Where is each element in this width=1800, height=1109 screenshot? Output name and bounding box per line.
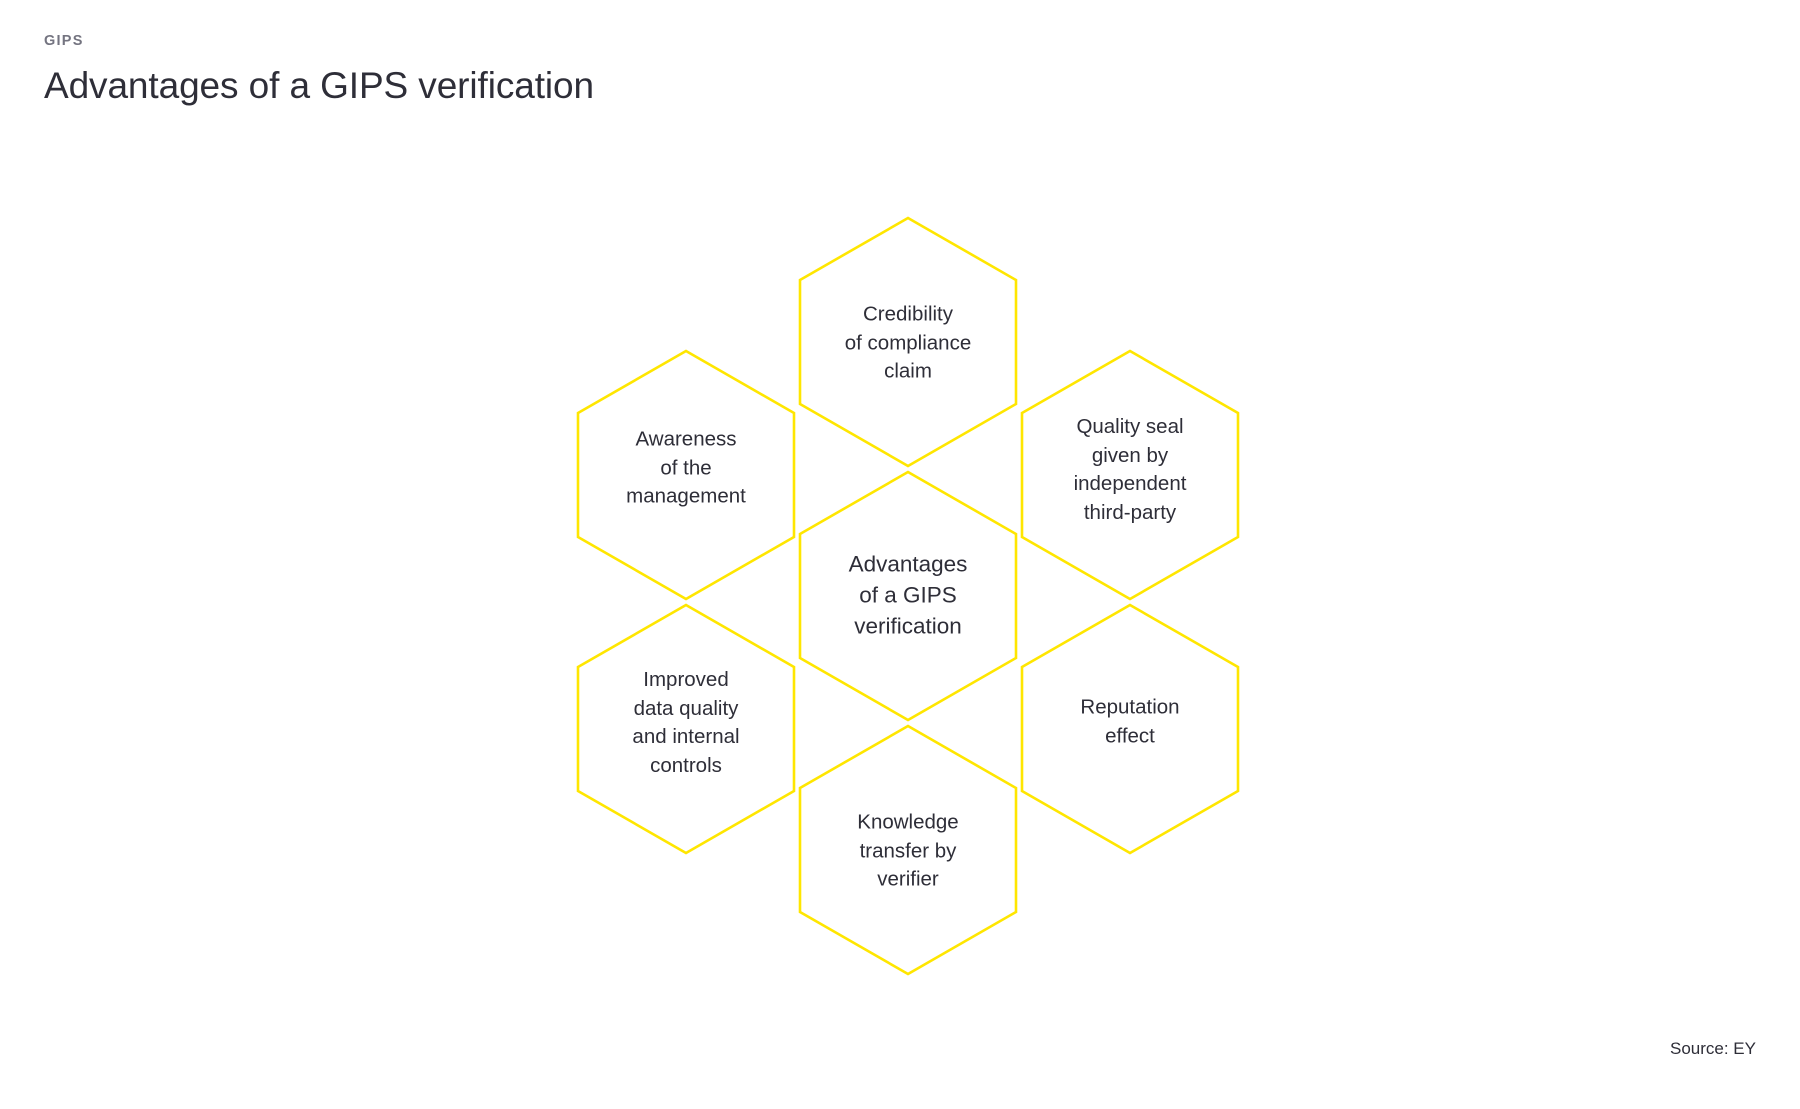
hexagon-reputation[interactable] bbox=[1022, 605, 1238, 853]
hexagon-quality-seal[interactable] bbox=[1022, 351, 1238, 599]
hexagon-credibility[interactable] bbox=[800, 218, 1016, 466]
hexagon-data-quality[interactable] bbox=[578, 605, 794, 853]
source-caption: Source: EY bbox=[1670, 1040, 1756, 1057]
hexagon-knowledge-transfer[interactable] bbox=[800, 726, 1016, 974]
hexagon-awareness[interactable] bbox=[578, 351, 794, 599]
hexagon-center[interactable] bbox=[800, 472, 1016, 720]
honeycomb-svg bbox=[0, 0, 1800, 1109]
honeycomb-diagram: Credibility of compliance claim Awarenes… bbox=[0, 0, 1800, 1109]
